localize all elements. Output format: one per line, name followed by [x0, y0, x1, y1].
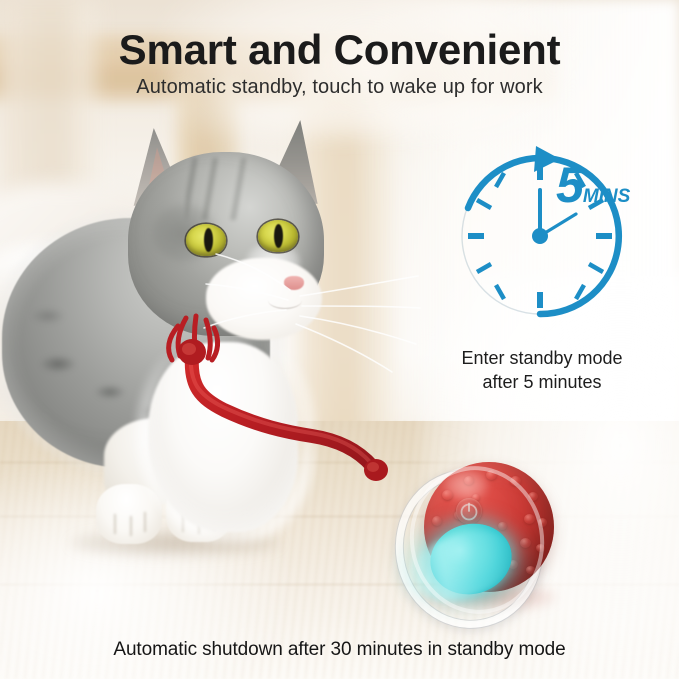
page-subtitle: Automatic standby, touch to wake up for …	[0, 76, 679, 99]
clock-center-pin	[532, 228, 548, 244]
standby-duration-number: 5	[556, 157, 583, 213]
standby-duration-label: 5MINS	[556, 160, 630, 210]
product-infographic: 5MINS Smart and Convenient Automatic sta…	[0, 0, 679, 679]
clock-caption-line-1: Enter standby mode	[404, 347, 679, 371]
clock-caption-line-2: after 5 minutes	[404, 371, 679, 395]
footer-caption: Automatic shutdown after 30 minutes in s…	[0, 639, 679, 661]
clock-caption: Enter standby mode after 5 minutes	[404, 347, 679, 395]
cat-ball-toy	[392, 452, 582, 632]
ball-specular-highlight	[444, 470, 488, 500]
page-title: Smart and Convenient	[0, 26, 679, 74]
cat-photo	[0, 100, 420, 570]
standby-duration-unit: MINS	[583, 186, 631, 207]
cat-whiskers	[120, 220, 420, 380]
